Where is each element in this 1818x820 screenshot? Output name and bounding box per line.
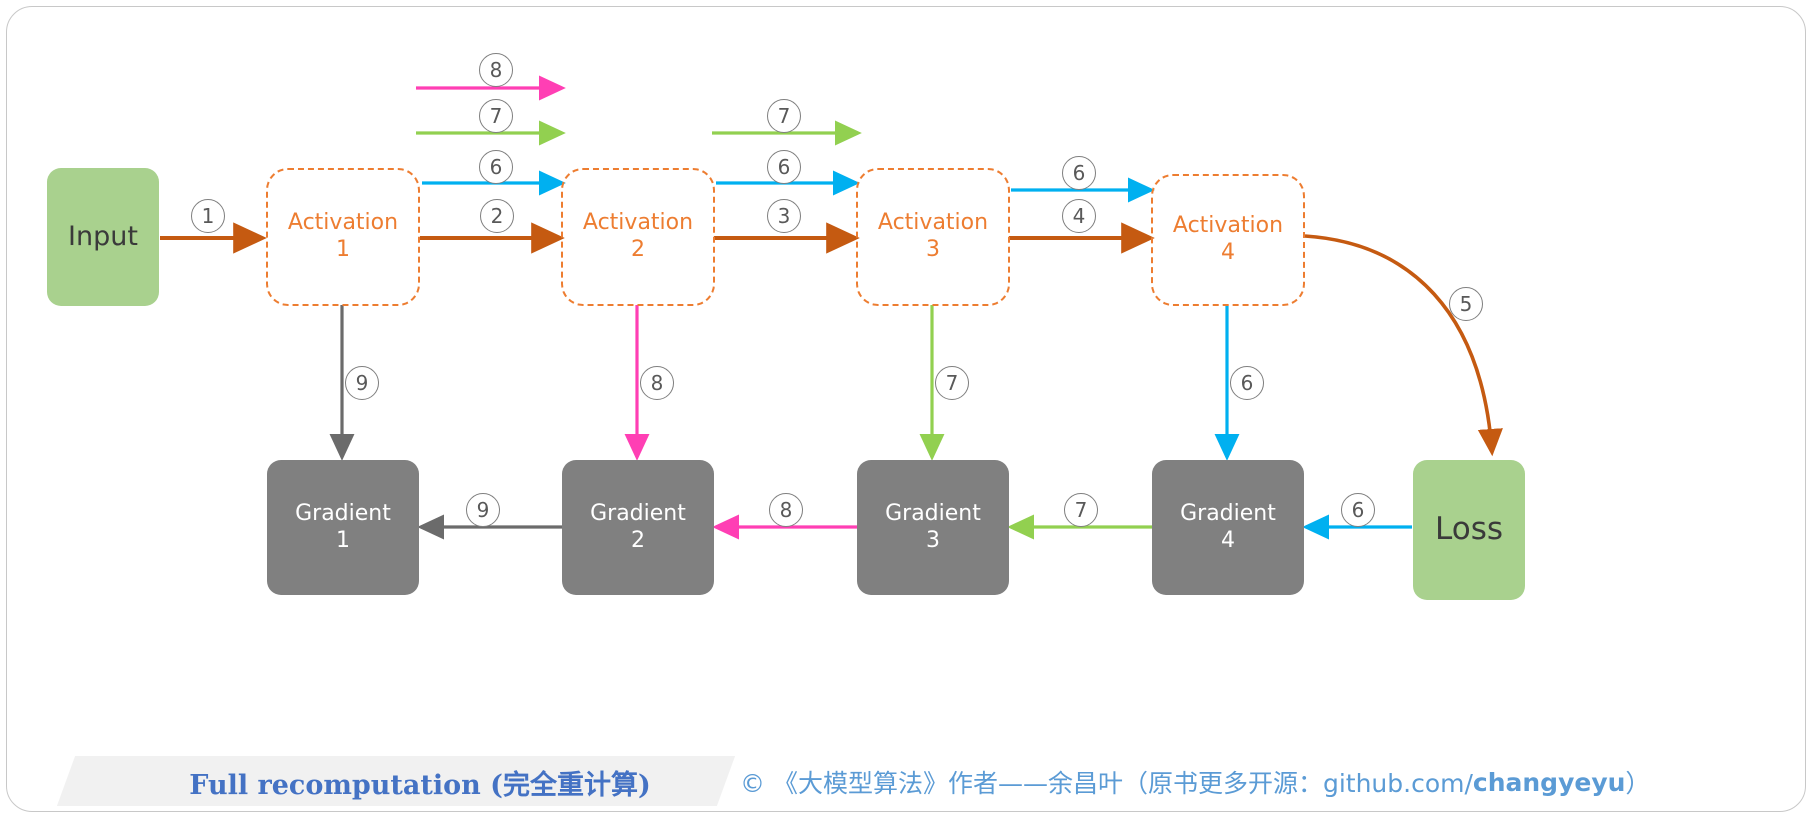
step-badge-1: 1 — [191, 199, 225, 233]
node-gradient-4[interactable]: Gradient 4 — [1152, 460, 1304, 595]
node-activation-3[interactable]: Activation 3 — [856, 168, 1010, 306]
footer-credit: © 《大模型算法》作者——余昌叶（原书更多开源：github.com/chang… — [740, 760, 1650, 804]
step-badge-pink-8-a1a2-text: 8 — [490, 58, 503, 82]
node-loss-label: Loss — [1435, 511, 1503, 549]
step-badge-blue-6-a3a4: 6 — [1062, 156, 1096, 190]
node-gradient-1-line1: Gradient — [295, 501, 391, 528]
node-activation-2-line2: 2 — [631, 237, 645, 264]
node-activation-1[interactable]: Activation 1 — [266, 168, 420, 306]
node-activation-4-line2: 4 — [1221, 240, 1235, 267]
step-badge-blue-6-a3a4-text: 6 — [1073, 161, 1086, 185]
node-gradient-1[interactable]: Gradient 1 — [267, 460, 419, 595]
node-gradient-3-line1: Gradient — [885, 501, 981, 528]
step-badge-loss-to-g4-text: 6 — [1352, 498, 1365, 522]
step-badge-a1-down: 9 — [345, 366, 379, 400]
node-input-label: Input — [68, 221, 138, 254]
node-activation-3-line2: 3 — [926, 237, 940, 264]
step-badge-green-7-a2a3-text: 7 — [778, 104, 791, 128]
footer-credit-prefix: © 《大模型算法》作者——余昌叶（原书更多开源：github.com/ — [740, 764, 1473, 800]
node-gradient-3-line2: 3 — [926, 528, 940, 555]
step-badge-blue-6-a2a3-text: 6 — [778, 155, 791, 179]
step-badge-4: 4 — [1062, 199, 1096, 233]
node-activation-2-line1: Activation — [583, 210, 693, 237]
footer-credit-suffix: ） — [1625, 764, 1650, 800]
footer-credit-handle: changyeyu — [1473, 768, 1626, 797]
step-badge-2-text: 2 — [491, 204, 504, 228]
node-gradient-2[interactable]: Gradient 2 — [562, 460, 714, 595]
node-activation-1-line1: Activation — [288, 210, 398, 237]
step-badge-pink-8-a1a2: 8 — [479, 53, 513, 87]
step-badge-a1-down-text: 9 — [356, 371, 369, 395]
node-activation-2[interactable]: Activation 2 — [561, 168, 715, 306]
step-badge-a3-down-text: 7 — [946, 371, 959, 395]
step-badge-g4-to-g3-text: 7 — [1075, 498, 1088, 522]
arrow-activation4-to-loss — [1305, 236, 1492, 452]
footer-title: Full recomputation (完全重计算) — [150, 760, 690, 804]
step-badge-3: 3 — [767, 199, 801, 233]
node-loss[interactable]: Loss — [1413, 460, 1525, 600]
step-badge-g3-to-g2: 8 — [769, 493, 803, 527]
step-badge-4-text: 4 — [1073, 204, 1086, 228]
step-badge-blue-6-a2a3: 6 — [767, 150, 801, 184]
node-activation-4[interactable]: Activation 4 — [1151, 174, 1305, 306]
diagram-canvas: Input Activation 1 Activation 2 Activati… — [0, 0, 1818, 820]
node-gradient-1-line2: 1 — [336, 528, 350, 555]
node-activation-1-line2: 1 — [336, 237, 350, 264]
step-badge-3-text: 3 — [778, 204, 791, 228]
step-badge-blue-6-a1a2: 6 — [479, 150, 513, 184]
step-badge-blue-6-a1a2-text: 6 — [490, 155, 503, 179]
step-badge-loss-to-g4: 6 — [1341, 493, 1375, 527]
arrow-layer — [0, 0, 1818, 820]
step-badge-g2-to-g1: 9 — [466, 493, 500, 527]
step-badge-a3-down: 7 — [935, 366, 969, 400]
footer: Full recomputation (完全重计算) © 《大模型算法》作者——… — [0, 756, 1818, 812]
node-input[interactable]: Input — [47, 168, 159, 306]
step-badge-2: 2 — [480, 199, 514, 233]
node-gradient-2-line2: 2 — [631, 528, 645, 555]
step-badge-green-7-a2a3: 7 — [767, 99, 801, 133]
node-gradient-3[interactable]: Gradient 3 — [857, 460, 1009, 595]
node-gradient-2-line1: Gradient — [590, 501, 686, 528]
step-badge-g2-to-g1-text: 9 — [477, 498, 490, 522]
node-activation-3-line1: Activation — [878, 210, 988, 237]
node-activation-4-line1: Activation — [1173, 213, 1283, 240]
step-badge-green-7-a1a2: 7 — [479, 99, 513, 133]
step-badge-1-text: 1 — [202, 204, 215, 228]
step-badge-green-7-a1a2-text: 7 — [490, 104, 503, 128]
step-badge-5-text: 5 — [1460, 292, 1473, 316]
step-badge-a4-down-text: 6 — [1241, 371, 1254, 395]
step-badge-5: 5 — [1449, 287, 1483, 321]
step-badge-a2-down-text: 8 — [651, 371, 664, 395]
step-badge-g4-to-g3: 7 — [1064, 493, 1098, 527]
node-gradient-4-line1: Gradient — [1180, 501, 1276, 528]
node-gradient-4-line2: 4 — [1221, 528, 1235, 555]
step-badge-g3-to-g2-text: 8 — [780, 498, 793, 522]
step-badge-a2-down: 8 — [640, 366, 674, 400]
step-badge-a4-down: 6 — [1230, 366, 1264, 400]
